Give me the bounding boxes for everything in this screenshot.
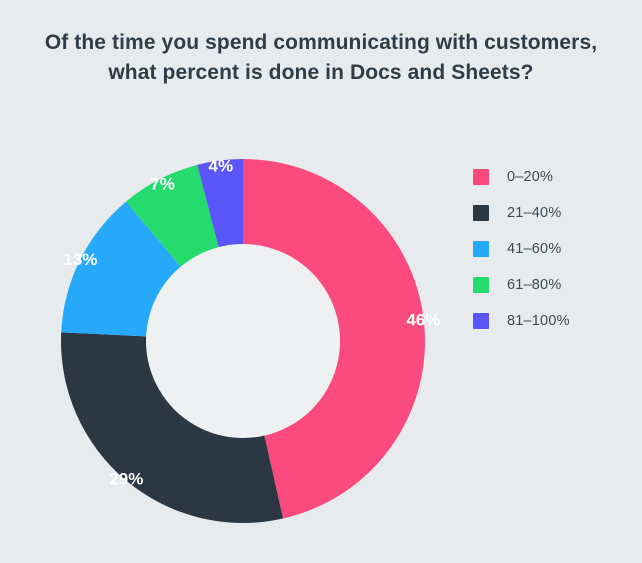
legend-color-swatch (473, 313, 489, 329)
legend-item[interactable]: 61–80% (473, 267, 623, 303)
slice-value-label: 29% (109, 470, 143, 489)
donut-hole (146, 244, 340, 438)
legend-color-swatch (473, 241, 489, 257)
chart-title-line-1: Of the time you spend communicating with… (26, 28, 616, 58)
slice-value-label: 7% (150, 174, 175, 193)
slice-value-label: 13% (63, 250, 97, 269)
legend-item-label: 21–40% (507, 205, 561, 221)
legend-color-swatch (473, 205, 489, 221)
donut-chart: 46%29%13%7%4% (40, 155, 446, 535)
chart-title: Of the time you spend communicating with… (0, 28, 642, 88)
legend-item-label: 81–100% (507, 313, 570, 329)
legend-item-label: 61–80% (507, 277, 561, 293)
legend-item-label: 41–60% (507, 241, 561, 257)
legend-item[interactable]: 41–60% (473, 231, 623, 267)
legend-color-swatch (473, 169, 489, 185)
legend-item-label: 0–20% (507, 169, 553, 185)
slice-value-label: 46% (406, 310, 440, 329)
chart-card: Of the time you spend communicating with… (0, 0, 642, 563)
legend-item[interactable]: 81–100% (473, 303, 623, 339)
legend-item[interactable]: 21–40% (473, 195, 623, 231)
legend-item[interactable]: 0–20% (473, 159, 623, 195)
legend-color-swatch (473, 277, 489, 293)
chart-title-line-2: what percent is done in Docs and Sheets? (26, 58, 616, 88)
legend: 0–20%21–40%41–60%61–80%81–100% (473, 159, 623, 339)
slice-value-label: 4% (208, 156, 233, 175)
